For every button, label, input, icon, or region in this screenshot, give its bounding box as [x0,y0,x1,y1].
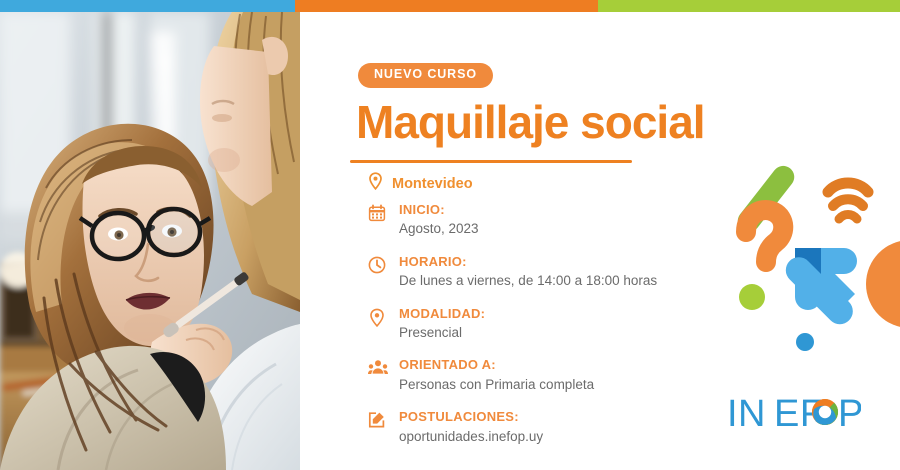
title-divider [350,160,632,163]
detail-value: Agosto, 2023 [399,219,479,239]
topbar-segment-orange [295,0,598,12]
edit-icon [368,409,388,434]
detail-value[interactable]: oportunidades.inefop.uy [399,427,543,447]
detail-label: HORARIO: [399,254,657,270]
detail-row-horario: HORARIO: De lunes a viernes, de 14:00 a … [368,254,828,291]
page-title: Maquillaje social [356,96,705,149]
detail-value: Presencial [399,323,485,343]
clock-icon [368,254,388,279]
detail-row-inicio: INICIO: Agosto, 2023 [368,202,828,239]
new-course-badge: NUEVO CURSO [358,63,493,88]
people-icon [368,357,388,380]
logo-ring [812,399,838,425]
detail-label: INICIO: [399,202,479,218]
detail-label: MODALIDAD: [399,306,485,322]
top-color-bar [0,0,900,12]
pin-icon [368,172,383,195]
calendar-icon [368,202,388,227]
location-line: Montevideo [368,172,473,195]
inefop-logo: IN EF P [727,390,861,438]
detail-label: POSTULACIONES: [399,409,543,425]
detail-label: ORIENTADO A: [399,357,594,373]
detail-row-orientado-a: ORIENTADO A: Personas con Primaria compl… [368,357,828,394]
course-photo [0,12,300,470]
logo-text-p: P [838,393,861,435]
location-label: Montevideo [392,176,473,192]
wifi-arcs-shape [828,183,868,219]
topbar-segment-blue [0,0,295,12]
detail-value: Personas con Primaria completa [399,375,594,395]
pin-icon [368,306,388,332]
course-info-card: NUEVO CURSO Maquillaje social Montevideo [300,12,900,470]
orange-circle-shape [866,240,900,328]
detail-value: De lunes a viernes, de 14:00 a 18:00 hor… [399,271,657,291]
detail-row-modalidad: MODALIDAD: Presencial [368,306,828,343]
logo-text-in: IN [727,393,766,435]
topbar-segment-green [598,0,900,12]
